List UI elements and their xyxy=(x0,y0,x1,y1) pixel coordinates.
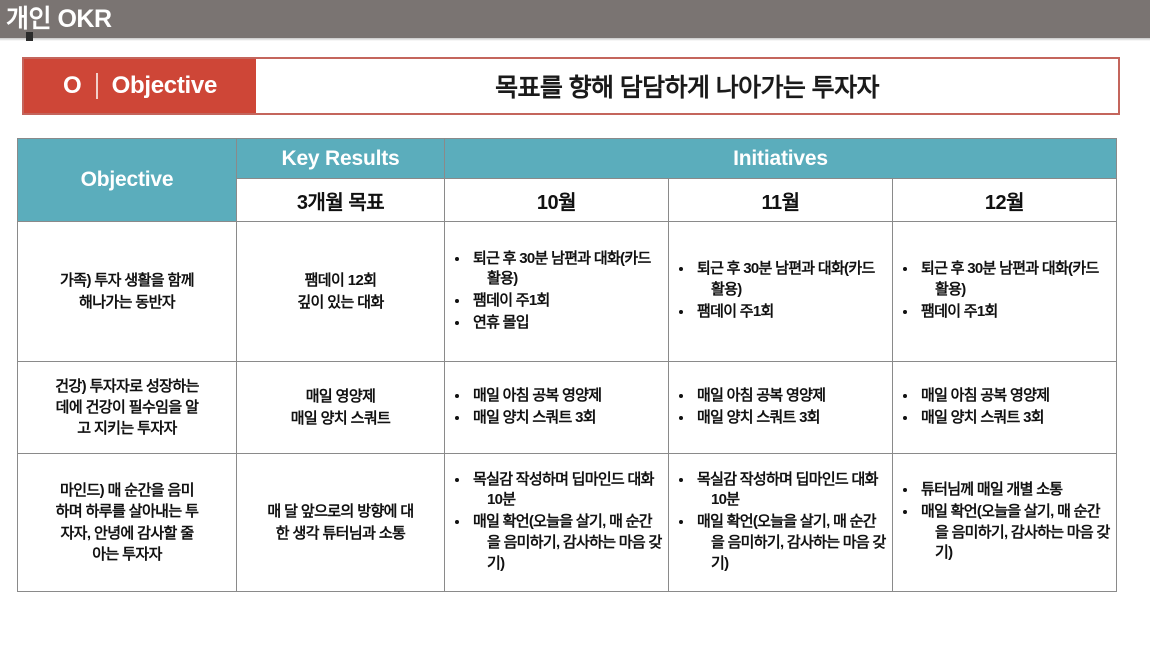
cell-objective: 가족) 투자 생활을 함께해나가는 동반자 xyxy=(18,222,237,362)
column-subheader-october: 10월 xyxy=(445,179,669,222)
bullet-icon xyxy=(455,321,459,325)
bullet-icon xyxy=(679,520,683,524)
bullet-icon xyxy=(903,394,907,398)
table-row: 가족) 투자 생활을 함께해나가는 동반자 팸데이 12회깊이 있는 대화 퇴근… xyxy=(18,222,1117,362)
initiative-item: 매일 양치 스쿼트 3회 xyxy=(673,408,886,429)
cell-initiative-november: 목실감 작성하며 딥마인드 대화 10분매일 확언(오늘을 살기, 매 순간을 … xyxy=(669,454,893,592)
cell-key-result: 매일 영양제매일 양치 스쿼트 xyxy=(237,362,445,454)
objective-banner: O Objective 목표를 향해 담담하게 나아가는 투자자 xyxy=(22,57,1120,115)
bullet-icon xyxy=(455,478,459,482)
initiative-list: 목실감 작성하며 딥마인드 대화 10분매일 확언(오늘을 살기, 매 순간을 … xyxy=(449,470,662,574)
cell-initiative-october: 매일 아침 공복 영양제매일 양치 스쿼트 3회 xyxy=(445,362,669,454)
bullet-icon xyxy=(903,267,907,271)
table-row: 마인드) 매 순간을 음미하며 하루를 살아내는 투자자, 안녕에 감사할 줄아… xyxy=(18,454,1117,592)
initiative-item: 매일 아침 공복 영양제 xyxy=(897,386,1110,407)
initiative-list: 퇴근 후 30분 남편과 대화(카드 활용)팸데이 주1회연휴 몰입 xyxy=(449,249,662,334)
page-title: 개인 OKR xyxy=(6,3,112,35)
table-body: 가족) 투자 생활을 함께해나가는 동반자 팸데이 12회깊이 있는 대화 퇴근… xyxy=(18,222,1117,592)
column-subheader-3month-goal: 3개월 목표 xyxy=(237,179,445,222)
initiative-item: 매일 확언(오늘을 살기, 매 순간을 음미하기, 감사하는 마음 갖기) xyxy=(673,512,886,574)
bullet-icon xyxy=(903,310,907,314)
table-row: 건강) 투자자로 성장하는데에 건강이 필수임을 알고 지키는 투자자 매일 영… xyxy=(18,362,1117,454)
column-subheader-november: 11월 xyxy=(669,179,893,222)
column-subheader-december: 12월 xyxy=(893,179,1117,222)
objective-tag-label: Objective xyxy=(112,74,217,98)
bullet-icon xyxy=(679,416,683,420)
bullet-icon xyxy=(679,478,683,482)
bullet-icon xyxy=(679,394,683,398)
okr-table: Objective Key Results Initiatives 3개월 목표… xyxy=(17,138,1117,592)
column-header-objective: Objective xyxy=(18,139,237,222)
cell-initiative-december: 튜터님께 매일 개별 소통매일 확언(오늘을 살기, 매 순간을 음미하기, 감… xyxy=(893,454,1117,592)
initiative-list: 퇴근 후 30분 남편과 대화(카드 활용)팸데이 주1회 xyxy=(673,259,886,322)
objective-tag: O Objective xyxy=(24,59,256,113)
bullet-icon xyxy=(903,510,907,514)
column-header-key-results: Key Results xyxy=(237,139,445,179)
initiative-item: 매일 양치 스쿼트 3회 xyxy=(897,408,1110,429)
title-bar-shadow xyxy=(0,38,1150,41)
initiative-list: 튜터님께 매일 개별 소통매일 확언(오늘을 살기, 매 순간을 음미하기, 감… xyxy=(897,480,1110,564)
cell-initiative-november: 퇴근 후 30분 남편과 대화(카드 활용)팸데이 주1회 xyxy=(669,222,893,362)
objective-statement: 목표를 향해 담담하게 나아가는 투자자 xyxy=(256,59,1118,113)
initiative-item: 퇴근 후 30분 남편과 대화(카드 활용) xyxy=(449,249,662,290)
bullet-icon xyxy=(679,267,683,271)
initiative-item: 목실감 작성하며 딥마인드 대화 10분 xyxy=(449,470,662,511)
table-group-header-row: Objective Key Results Initiatives xyxy=(18,139,1117,179)
cell-objective: 마인드) 매 순간을 음미하며 하루를 살아내는 투자자, 안녕에 감사할 줄아… xyxy=(18,454,237,592)
title-bullet-marker xyxy=(26,32,33,41)
bullet-icon xyxy=(903,488,907,492)
page-title-bar: 개인 OKR xyxy=(0,0,1150,38)
initiative-list: 퇴근 후 30분 남편과 대화(카드 활용)팸데이 주1회 xyxy=(897,259,1110,322)
cell-initiative-november: 매일 아침 공복 영양제매일 양치 스쿼트 3회 xyxy=(669,362,893,454)
bullet-icon xyxy=(455,299,459,303)
cell-key-result: 매 달 앞으로의 방향에 대한 생각 튜터님과 소통 xyxy=(237,454,445,592)
cell-key-result: 팸데이 12회깊이 있는 대화 xyxy=(237,222,445,362)
initiative-item: 목실감 작성하며 딥마인드 대화 10분 xyxy=(673,470,886,511)
column-header-initiatives: Initiatives xyxy=(445,139,1117,179)
divider-icon xyxy=(96,73,98,99)
initiative-list: 매일 아침 공복 영양제매일 양치 스쿼트 3회 xyxy=(897,386,1110,428)
initiative-item: 팸데이 주1회 xyxy=(449,291,662,312)
cell-initiative-december: 매일 아침 공복 영양제매일 양치 스쿼트 3회 xyxy=(893,362,1117,454)
objective-letter: O xyxy=(63,74,82,98)
bullet-icon xyxy=(455,520,459,524)
initiative-item: 매일 확언(오늘을 살기, 매 순간을 음미하기, 감사하는 마음 갖기) xyxy=(897,502,1110,564)
bullet-icon xyxy=(455,416,459,420)
initiative-list: 목실감 작성하며 딥마인드 대화 10분매일 확언(오늘을 살기, 매 순간을 … xyxy=(673,470,886,574)
initiative-item: 연휴 몰입 xyxy=(449,313,662,334)
initiative-item: 매일 양치 스쿼트 3회 xyxy=(449,408,662,429)
initiative-item: 매일 확언(오늘을 살기, 매 순간을 음미하기, 감사하는 마음 갖기) xyxy=(449,512,662,574)
cell-initiative-october: 목실감 작성하며 딥마인드 대화 10분매일 확언(오늘을 살기, 매 순간을 … xyxy=(445,454,669,592)
initiative-item: 튜터님께 매일 개별 소통 xyxy=(897,480,1110,501)
bullet-icon xyxy=(903,416,907,420)
bullet-icon xyxy=(679,310,683,314)
initiative-item: 퇴근 후 30분 남편과 대화(카드 활용) xyxy=(897,259,1110,300)
table-header: Objective Key Results Initiatives 3개월 목표… xyxy=(18,139,1117,222)
bullet-icon xyxy=(455,394,459,398)
initiative-item: 팸데이 주1회 xyxy=(673,302,886,323)
initiative-item: 매일 아침 공복 영양제 xyxy=(449,386,662,407)
initiative-item: 퇴근 후 30분 남편과 대화(카드 활용) xyxy=(673,259,886,300)
cell-initiative-december: 퇴근 후 30분 남편과 대화(카드 활용)팸데이 주1회 xyxy=(893,222,1117,362)
initiative-item: 매일 아침 공복 영양제 xyxy=(673,386,886,407)
bullet-icon xyxy=(455,257,459,261)
initiative-list: 매일 아침 공복 영양제매일 양치 스쿼트 3회 xyxy=(673,386,886,428)
cell-objective: 건강) 투자자로 성장하는데에 건강이 필수임을 알고 지키는 투자자 xyxy=(18,362,237,454)
initiative-item: 팸데이 주1회 xyxy=(897,302,1110,323)
initiative-list: 매일 아침 공복 영양제매일 양치 스쿼트 3회 xyxy=(449,386,662,428)
cell-initiative-october: 퇴근 후 30분 남편과 대화(카드 활용)팸데이 주1회연휴 몰입 xyxy=(445,222,669,362)
